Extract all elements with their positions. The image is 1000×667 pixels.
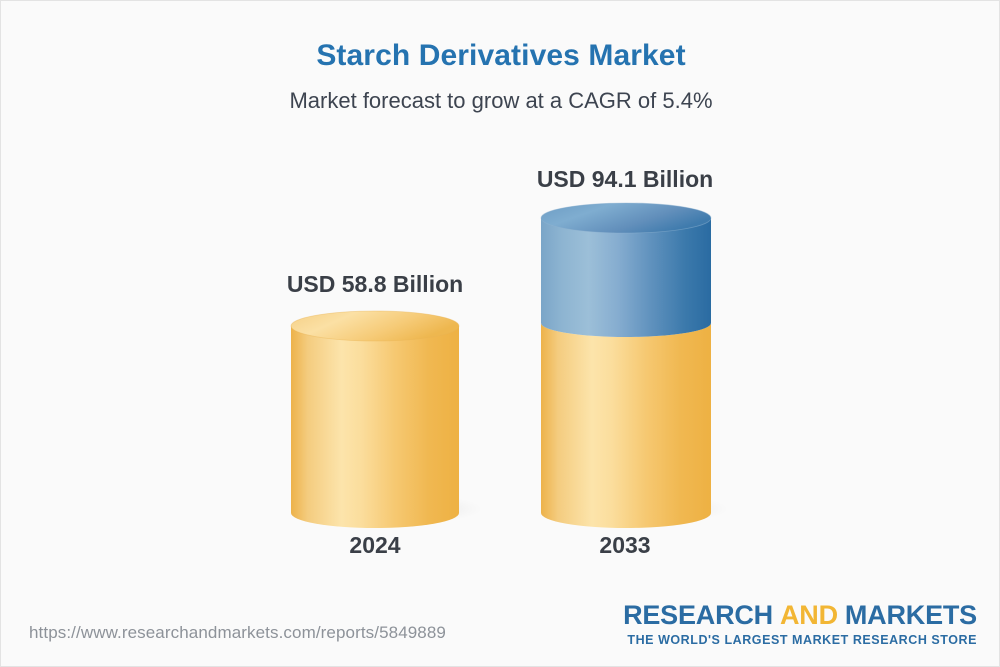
- logo-tagline: THE WORLD'S LARGEST MARKET RESEARCH STOR…: [623, 633, 977, 647]
- logo-wordmark: RESEARCHANDMARKETS: [623, 602, 977, 630]
- logo-part-markets: MARKETS: [845, 600, 977, 630]
- cylinder-2033: [533, 197, 733, 533]
- value-label-2033: USD 94.1 Billion: [475, 166, 775, 193]
- bar-group-2033: USD 94.1 Billion: [1, 1, 1000, 601]
- brand-logo[interactable]: RESEARCHANDMARKETS THE WORLD'S LARGEST M…: [623, 602, 977, 647]
- chart-canvas: Starch Derivatives Market Market forecas…: [0, 0, 1000, 667]
- source-url[interactable]: https://www.researchandmarkets.com/repor…: [29, 623, 446, 643]
- logo-part-research: RESEARCH: [623, 600, 773, 630]
- logo-part-and: AND: [780, 600, 838, 630]
- plot-area: USD 58.8 Billion: [1, 1, 1000, 601]
- category-label-2033: 2033: [475, 532, 775, 559]
